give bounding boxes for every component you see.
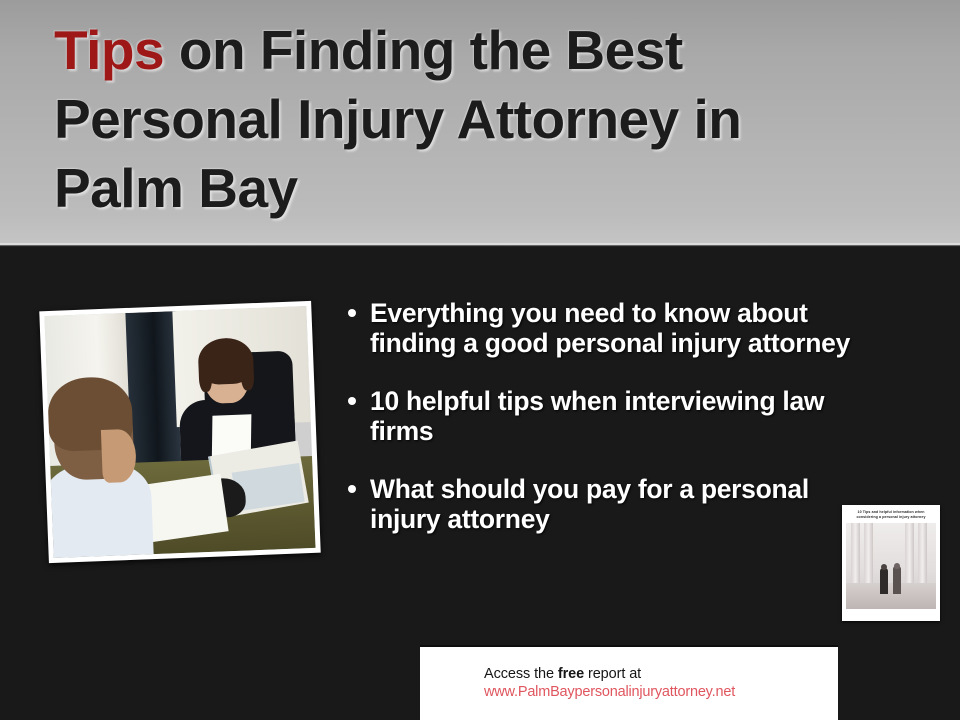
thumbnail-image [846,523,936,609]
bullet-item: What should you pay for a personal injur… [340,474,860,534]
photo-attorney-hair-left [198,358,212,392]
caption-text: Access the free report at [484,665,838,683]
caption-prefix: Access the [484,666,558,682]
thumbnail-column [905,523,914,583]
website-url[interactable]: www.PalmBaypersonalinjuryattorney.net [484,683,838,701]
attorney-consultation-photo [39,301,320,563]
thumbnail-column [864,523,873,583]
title-accent-word: Tips [54,19,164,81]
thumbnail-column [851,523,860,583]
page-title: Tips on Finding the Best Personal Injury… [54,16,884,223]
caption-suffix: report at [584,666,641,682]
thumbnail-title: 10 Tips and helpful information when con… [847,510,935,520]
bullet-list: Everything you need to know about findin… [340,298,860,562]
caption-emphasis: free [558,666,584,682]
slide: Tips on Finding the Best Personal Injury… [0,0,960,720]
thumbnail-floor [846,583,936,609]
thumbnail-person-two [893,566,901,594]
thumbnail-person-one [880,568,888,594]
thumbnail-column [918,523,927,583]
thumbnail-person-two-head [894,563,900,569]
call-to-action-box: Access the free report at www.PalmBayper… [420,645,838,720]
photo-image [44,306,315,558]
bullet-item: 10 helpful tips when interviewing law fi… [340,386,860,446]
bullet-item: Everything you need to know about findin… [340,298,860,358]
photo-attorney-hair-right [240,357,254,391]
report-cover-thumbnail: 10 Tips and helpful information when con… [842,505,940,621]
slide-header: Tips on Finding the Best Personal Injury… [0,0,960,243]
